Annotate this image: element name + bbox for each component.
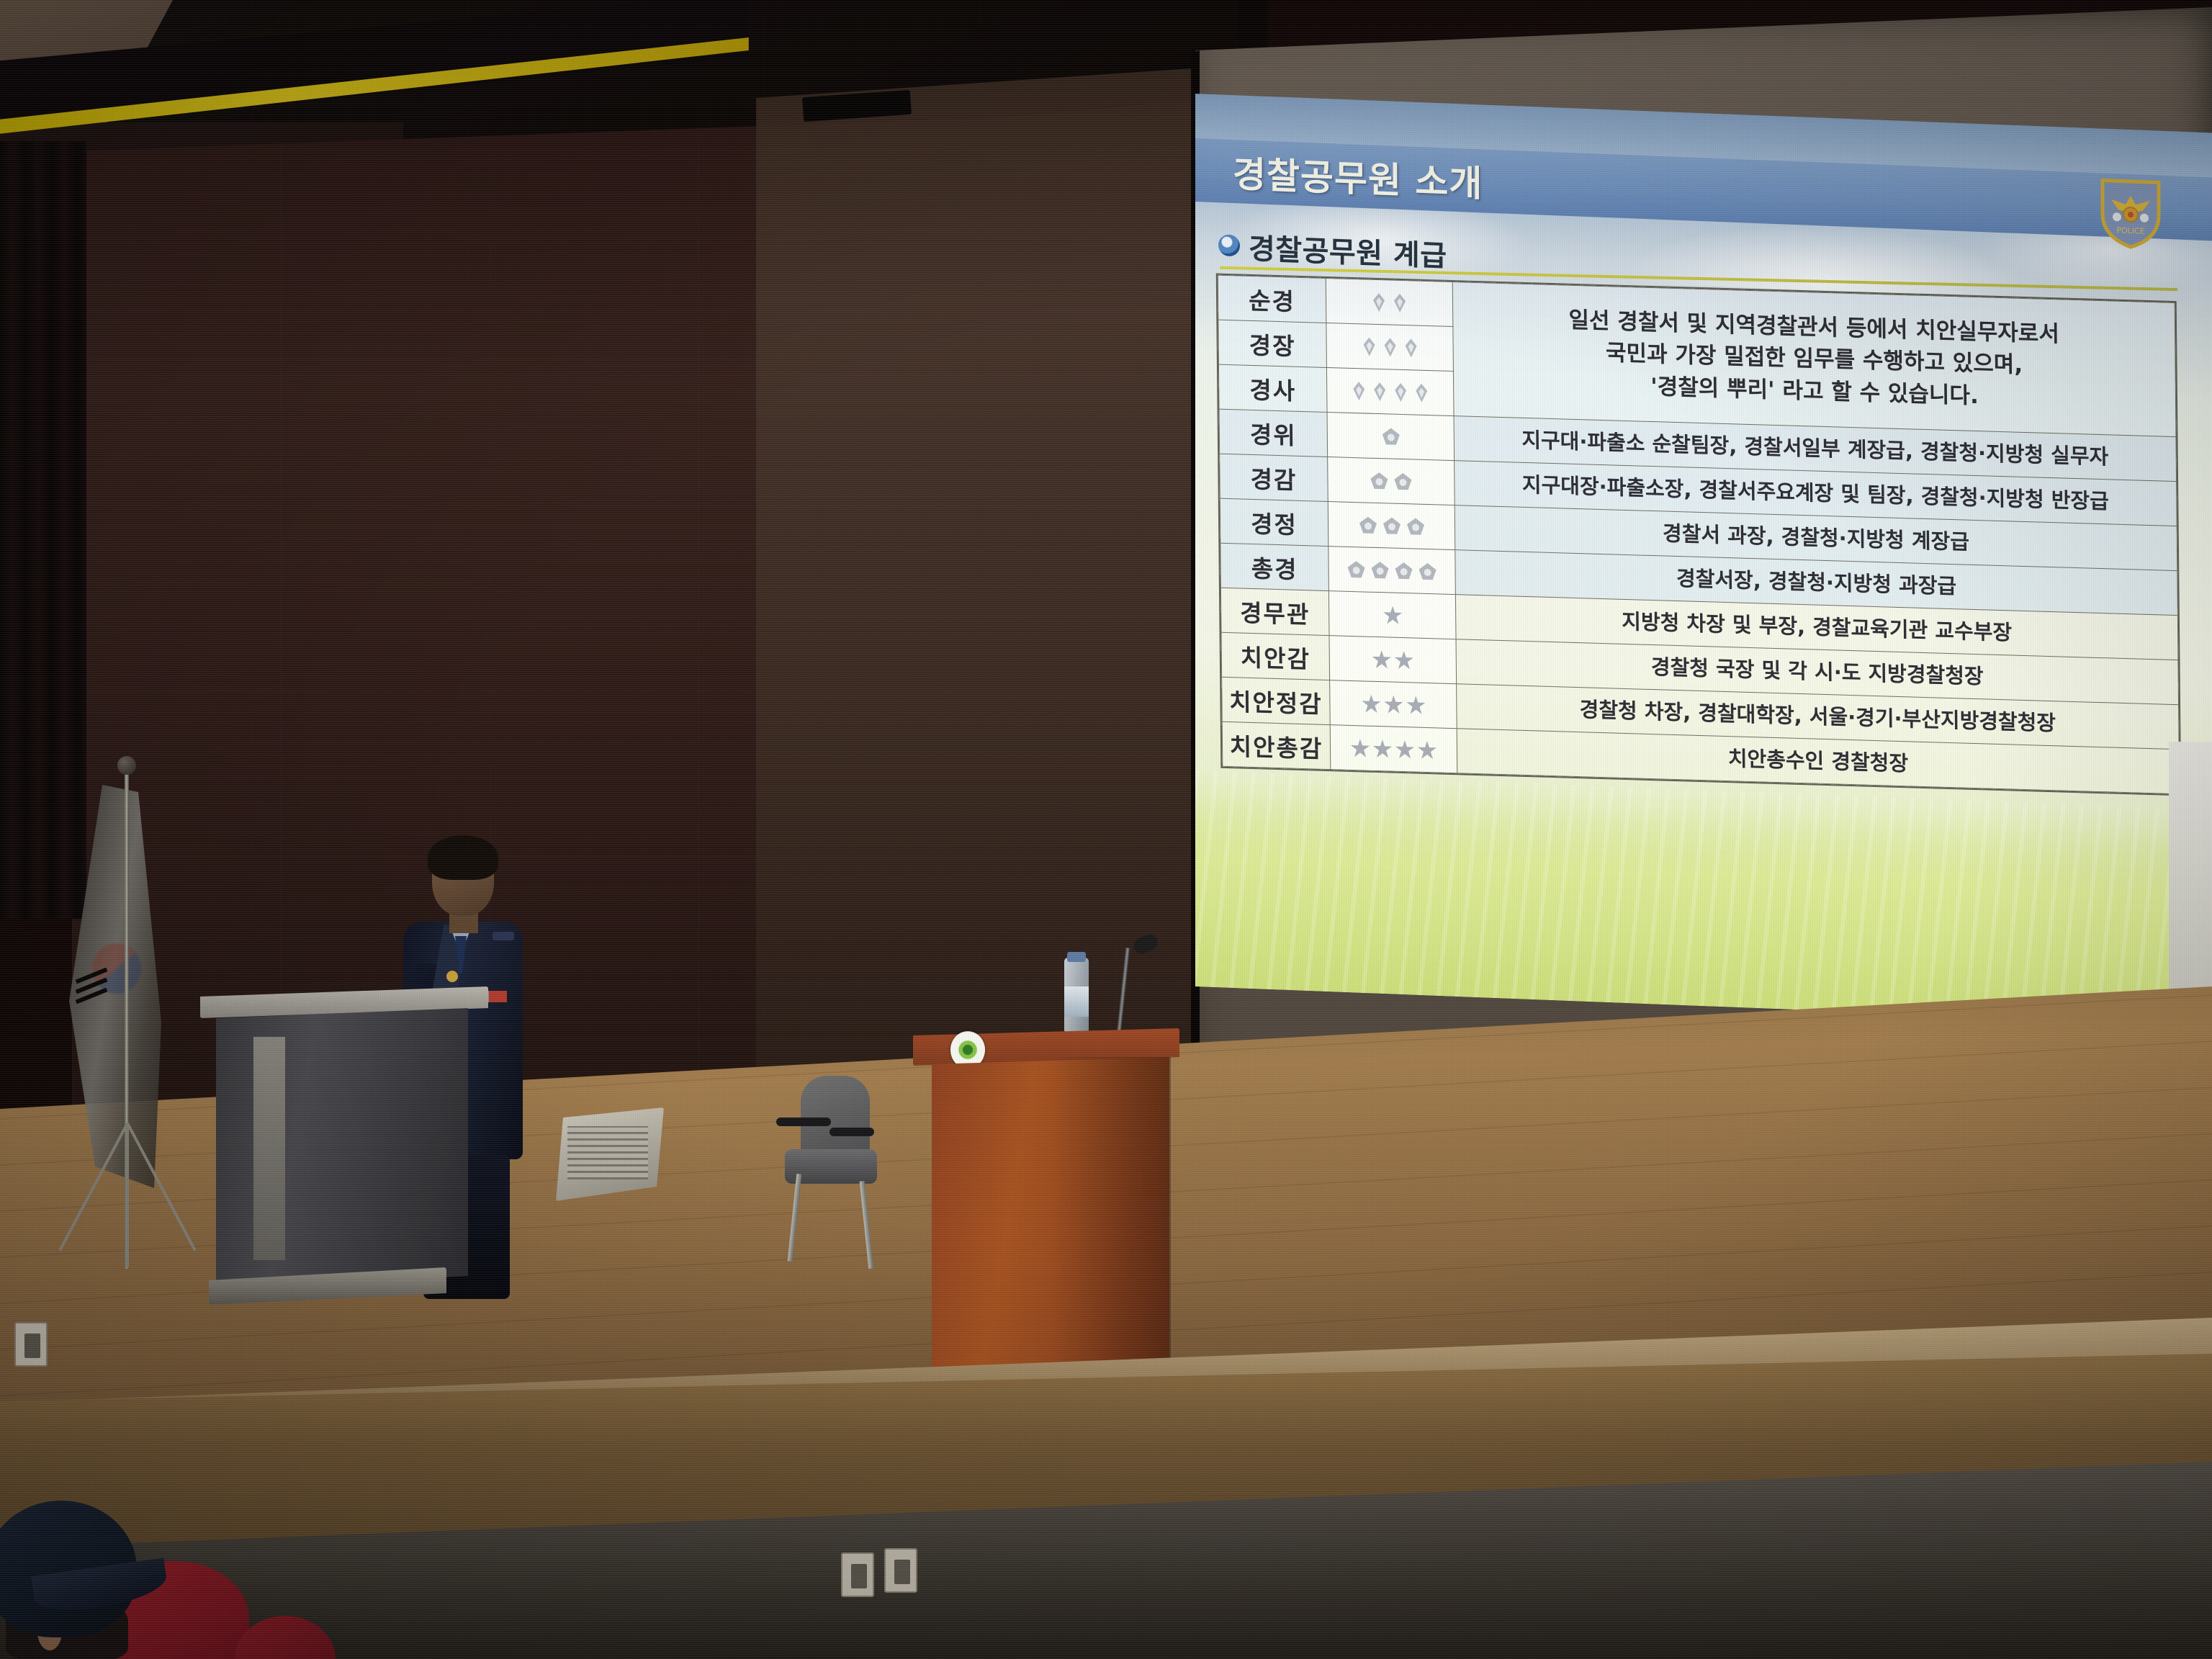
rank-insignia-cell bbox=[1328, 502, 1455, 550]
flag-tripod-stand bbox=[29, 1123, 245, 1282]
rank-name-cell: 총경 bbox=[1220, 543, 1329, 590]
wall-outlet-3 bbox=[14, 1322, 48, 1367]
rank-insignia-cell bbox=[1328, 457, 1455, 505]
water-bottle-label bbox=[1064, 986, 1089, 1017]
rank-insignia-cell bbox=[1329, 636, 1457, 684]
chair-armrest-right bbox=[829, 1128, 874, 1136]
rank-insignia-cell bbox=[1327, 412, 1455, 460]
slide-grass-background bbox=[1195, 770, 2212, 1025]
police-rank-table: 순경일선 경찰서 및 지역경찰관서 등에서 치안실무자로서국민과 가장 밀접한 … bbox=[1218, 275, 2180, 795]
police-emblem-icon: POLICE bbox=[2100, 176, 2162, 250]
rank-description-cell: 일선 경찰서 및 지역경찰관서 등에서 치안실무자로서국민과 가장 밀접한 임무… bbox=[1452, 282, 2176, 437]
rank-insignia-cell bbox=[1330, 680, 1457, 729]
rank-name-cell: 경감 bbox=[1220, 454, 1328, 501]
bullet-icon bbox=[1218, 234, 1240, 256]
rank-insignia-cell bbox=[1330, 725, 1457, 773]
water-bottle-cap bbox=[1067, 952, 1086, 962]
chair-armrest-left bbox=[776, 1118, 831, 1126]
lectern-accent-stripe bbox=[253, 1037, 285, 1260]
officer-hair bbox=[428, 835, 498, 880]
police-emblem-caption: POLICE bbox=[2116, 225, 2144, 236]
floor-heater bbox=[556, 1107, 664, 1201]
rank-insignia-cell bbox=[1326, 278, 1453, 326]
stage-curtain bbox=[0, 141, 86, 919]
flag-finial bbox=[117, 756, 136, 775]
projected-slide: 경찰공무원 소개 POLICE 경찰공무원 계급 bbox=[1195, 94, 2212, 1112]
slide-title: 경찰공무원 소개 bbox=[1233, 145, 1483, 207]
rank-name-cell: 경사 bbox=[1218, 364, 1327, 412]
rank-name-cell: 경장 bbox=[1218, 320, 1327, 367]
officer-rank-badge bbox=[446, 971, 458, 982]
officer-shoulder-board bbox=[493, 932, 514, 940]
trigram-icon bbox=[75, 974, 108, 1014]
rank-name-cell: 순경 bbox=[1218, 275, 1326, 323]
rank-insignia-cell bbox=[1328, 591, 1456, 639]
rank-insignia-cell bbox=[1326, 367, 1454, 415]
rank-name-cell: 경위 bbox=[1219, 409, 1328, 457]
rank-insignia-cell bbox=[1328, 547, 1456, 595]
rank-insignia-cell bbox=[1326, 323, 1454, 371]
rank-name-cell: 치안총감 bbox=[1222, 721, 1331, 769]
wall-outlet-2 bbox=[884, 1548, 917, 1593]
auditorium-scene: 경찰공무원 소개 POLICE 경찰공무원 계급 bbox=[0, 0, 2212, 1659]
rank-name-cell: 치안정감 bbox=[1222, 677, 1331, 724]
rank-name-cell: 경무관 bbox=[1220, 588, 1329, 635]
wall-outlet-1 bbox=[841, 1552, 874, 1597]
rank-name-cell: 경정 bbox=[1220, 498, 1328, 546]
rank-name-cell: 치안감 bbox=[1221, 632, 1330, 680]
wall-center-panel bbox=[756, 65, 1246, 1188]
